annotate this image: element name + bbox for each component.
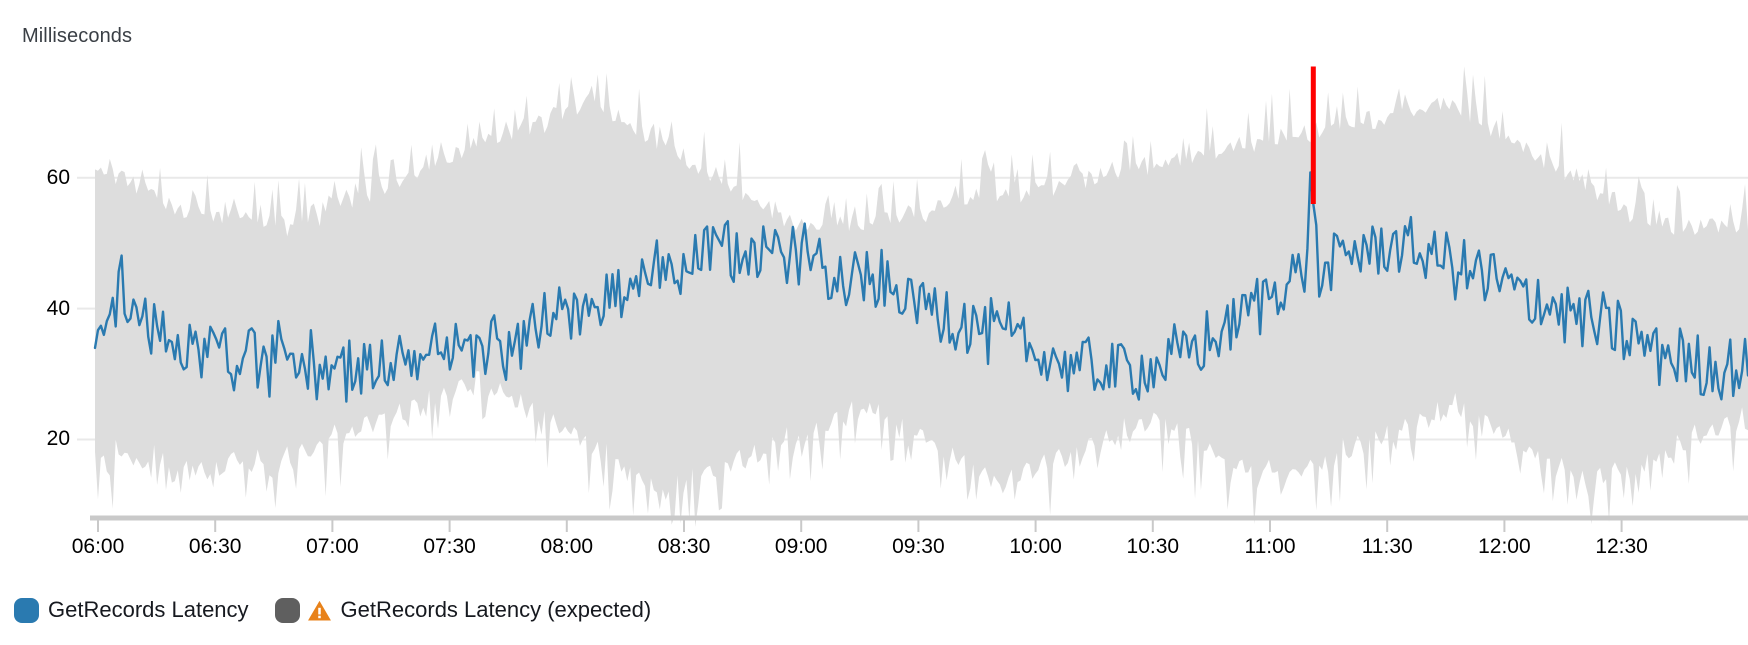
chart-legend: GetRecords LatencyGetRecords Latency (ex…	[14, 593, 651, 627]
x-axis-tick-label: 08:30	[624, 536, 744, 557]
metric-chart-widget: Milliseconds 204060 06:0006:3007:0007:30…	[0, 0, 1748, 645]
x-axis-tick-label: 11:30	[1327, 536, 1447, 557]
legend-item-label: GetRecords Latency (expected)	[341, 597, 652, 623]
y-axis-tick-label: 20	[14, 428, 70, 449]
y-axis-tick-label: 40	[14, 298, 70, 319]
x-axis-tick-label: 07:00	[272, 536, 392, 557]
expected-band-area	[95, 66, 1748, 527]
plot-area: 204060 06:0006:3007:0007:3008:0008:3009:…	[0, 0, 1748, 585]
legend-item-label: GetRecords Latency	[48, 597, 249, 623]
x-axis-tick-label: 06:30	[155, 536, 275, 557]
x-axis-tick-label: 09:00	[741, 536, 861, 557]
legend-color-swatch	[275, 598, 300, 623]
y-axis-tick-label: 60	[14, 167, 70, 188]
legend-color-swatch	[14, 598, 39, 623]
legend-item-getrecords-latency-expected[interactable]: GetRecords Latency (expected)	[275, 597, 652, 623]
x-axis-tick-label: 10:30	[1093, 536, 1213, 557]
warning-triangle-icon	[307, 598, 332, 623]
x-axis-tick-label: 12:00	[1444, 536, 1564, 557]
x-axis-tick-label: 07:30	[390, 536, 510, 557]
x-axis-tick-label: 06:00	[38, 536, 158, 557]
x-axis-tick-label: 08:00	[507, 536, 627, 557]
x-axis-tick-label: 12:30	[1562, 536, 1682, 557]
x-axis-tick-label: 09:30	[858, 536, 978, 557]
legend-item-getrecords-latency[interactable]: GetRecords Latency	[14, 597, 249, 623]
x-axis-tick-marks	[98, 520, 1622, 532]
x-axis-tick-label: 10:00	[976, 536, 1096, 557]
chart-canvas	[0, 0, 1748, 585]
x-axis-tick-label: 11:00	[1210, 536, 1330, 557]
